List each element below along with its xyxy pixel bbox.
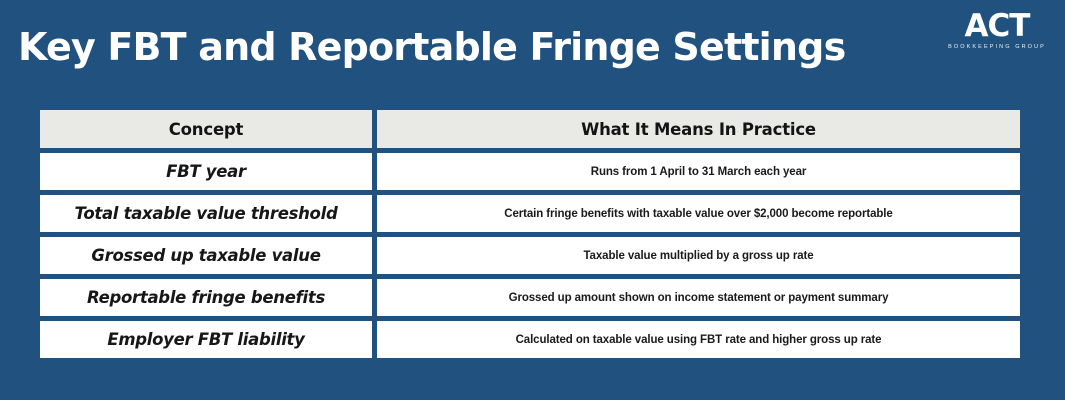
table-row: Grossed up taxable value Taxable value m…: [40, 237, 1020, 274]
settings-table: Concept What It Means In Practice FBT ye…: [35, 105, 1025, 363]
cell-meaning: Calculated on taxable value using FBT ra…: [377, 321, 1020, 358]
column-header-concept: Concept: [40, 110, 372, 148]
table-row: Reportable fringe benefits Grossed up am…: [40, 279, 1020, 316]
cell-meaning: Runs from 1 April to 31 March each year: [377, 153, 1020, 190]
table-row: Total taxable value threshold Certain fr…: [40, 195, 1020, 232]
infographic-canvas: Key FBT and Reportable Fringe Settings A…: [0, 0, 1065, 400]
cell-meaning: Grossed up amount shown on income statem…: [377, 279, 1020, 316]
cell-concept: Grossed up taxable value: [40, 237, 372, 274]
table-row: Employer FBT liability Calculated on tax…: [40, 321, 1020, 358]
cell-meaning: Taxable value multiplied by a gross up r…: [377, 237, 1020, 274]
brand-logo: ACT BOOKKEEPING GROUP: [947, 10, 1047, 52]
page-title: Key FBT and Reportable Fringe Settings: [18, 24, 918, 70]
cell-concept: Employer FBT liability: [40, 321, 372, 358]
brand-logo-mark: ACT: [947, 10, 1047, 42]
cell-concept: FBT year: [40, 153, 372, 190]
cell-concept: Reportable fringe benefits: [40, 279, 372, 316]
table-header-row: Concept What It Means In Practice: [40, 110, 1020, 148]
column-header-meaning: What It Means In Practice: [377, 110, 1020, 148]
cell-meaning: Certain fringe benefits with taxable val…: [377, 195, 1020, 232]
table-row: FBT year Runs from 1 April to 31 March e…: [40, 153, 1020, 190]
cell-concept: Total taxable value threshold: [40, 195, 372, 232]
brand-logo-subtitle: BOOKKEEPING GROUP: [947, 42, 1047, 52]
